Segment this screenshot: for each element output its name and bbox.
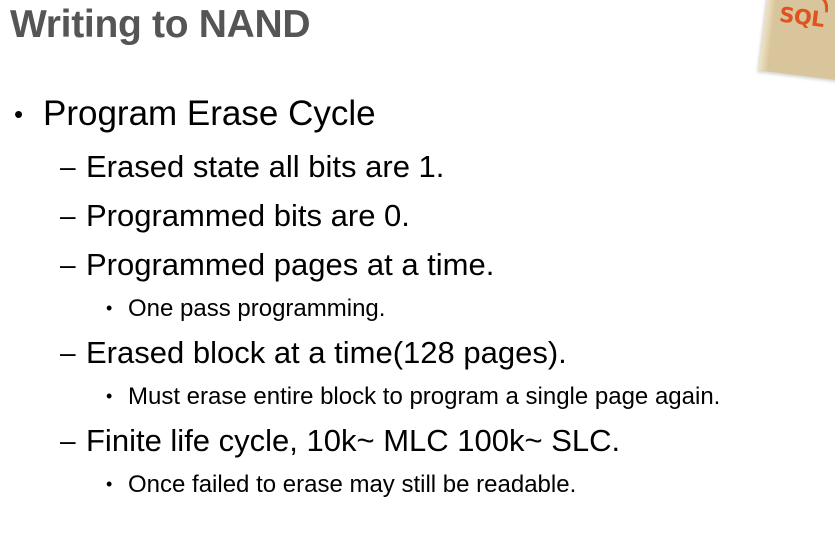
list-item: – Programmed bits are 0. [0, 191, 835, 240]
list-item-label: One pass programming. [128, 289, 835, 328]
list-item: – Erased state all bits are 1. [0, 142, 835, 191]
list-item: – Erased block at a time(128 pages). [0, 328, 835, 377]
list-item: • Program Erase Cycle [0, 88, 835, 140]
slide-body-outline: • Program Erase Cycle – Erased state all… [0, 88, 835, 504]
bullet-marker-icon: – [60, 240, 86, 289]
list-item: • Must erase entire block to program a s… [0, 377, 835, 416]
list-item-label: Program Erase Cycle [43, 88, 835, 140]
bullet-marker-icon: – [60, 142, 86, 191]
list-item: – Finite life cycle, 10k~ MLC 100k~ SLC. [0, 416, 835, 465]
bullet-marker-icon: – [60, 416, 86, 465]
bullet-marker-icon: • [106, 377, 128, 416]
list-item-label: Programmed pages at a time. [86, 240, 835, 289]
page-title: Writing to NAND [10, 2, 310, 49]
list-item-label: Erased block at a time(128 pages). [86, 328, 835, 377]
list-item-label: Once failed to erase may still be readab… [128, 465, 835, 504]
list-item: • One pass programming. [0, 289, 835, 328]
bullet-marker-icon: • [106, 465, 128, 504]
bullet-marker-icon: • [106, 289, 128, 328]
list-item: – Programmed pages at a time. [0, 240, 835, 289]
list-item-label: Programmed bits are 0. [86, 191, 835, 240]
sql-logo-text: SQL [778, 5, 825, 31]
bullet-marker-icon: – [60, 191, 86, 240]
sql-card-decoration: SQL [758, 0, 835, 81]
list-item-label: Finite life cycle, 10k~ MLC 100k~ SLC. [86, 416, 835, 465]
list-item-label: Erased state all bits are 1. [86, 142, 835, 191]
card-edge-highlight [758, 0, 781, 71]
list-item: • Once failed to erase may still be read… [0, 465, 835, 504]
list-item-label: Must erase entire block to program a sin… [128, 377, 835, 416]
bullet-marker-icon: • [14, 88, 43, 140]
bullet-marker-icon: – [60, 328, 86, 377]
